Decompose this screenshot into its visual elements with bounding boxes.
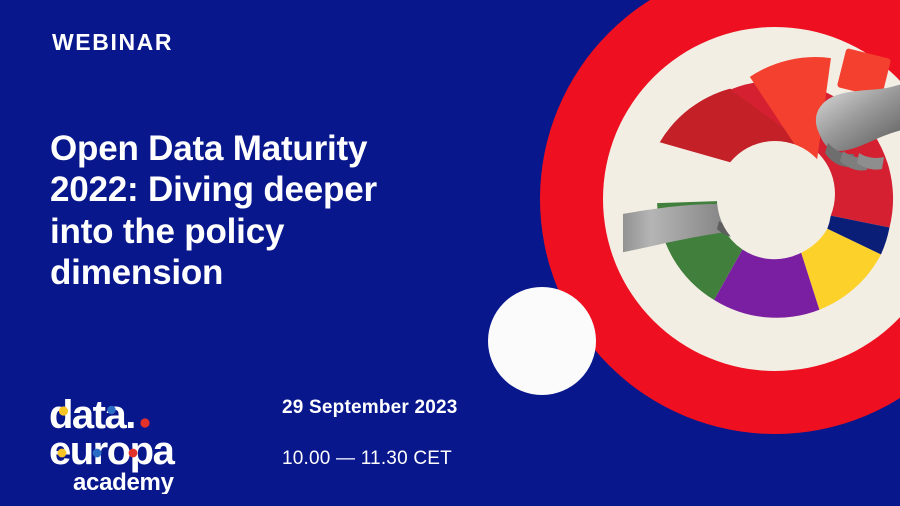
donut-chart (623, 47, 900, 351)
hero-graphic (480, 0, 900, 506)
logo-line-europa: europa (49, 429, 176, 473)
page-title: Open Data Maturity 2022: Diving deeper i… (50, 128, 480, 293)
title-line-4: dimension (50, 252, 480, 293)
logo-dot-yellow-2 (58, 449, 67, 458)
title-line-2: 2022: Diving deeper (50, 169, 480, 210)
logo-data-europa-academy: data. europa academy (49, 396, 239, 494)
event-time: 10.00 — 11.30 CET (282, 448, 452, 470)
donut-center-hole (717, 141, 833, 257)
white-circle-accent (488, 287, 596, 395)
webinar-poster: WEBINAR Open Data Maturity 2022: Diving … (0, 0, 900, 506)
logo-dot-yellow (59, 406, 68, 415)
title-line-1: Open Data Maturity (50, 128, 480, 169)
logo-dot-red-period (140, 418, 149, 427)
event-date: 29 September 2023 (282, 397, 458, 419)
logo-dot-red-2 (129, 449, 138, 458)
eyebrow-label: WEBINAR (52, 29, 173, 56)
logo-line-academy: academy (73, 469, 175, 494)
logo-dot-blue-top (107, 406, 115, 414)
title-line-3: into the policy (50, 211, 480, 252)
logo-dot-blue-2 (93, 449, 102, 458)
